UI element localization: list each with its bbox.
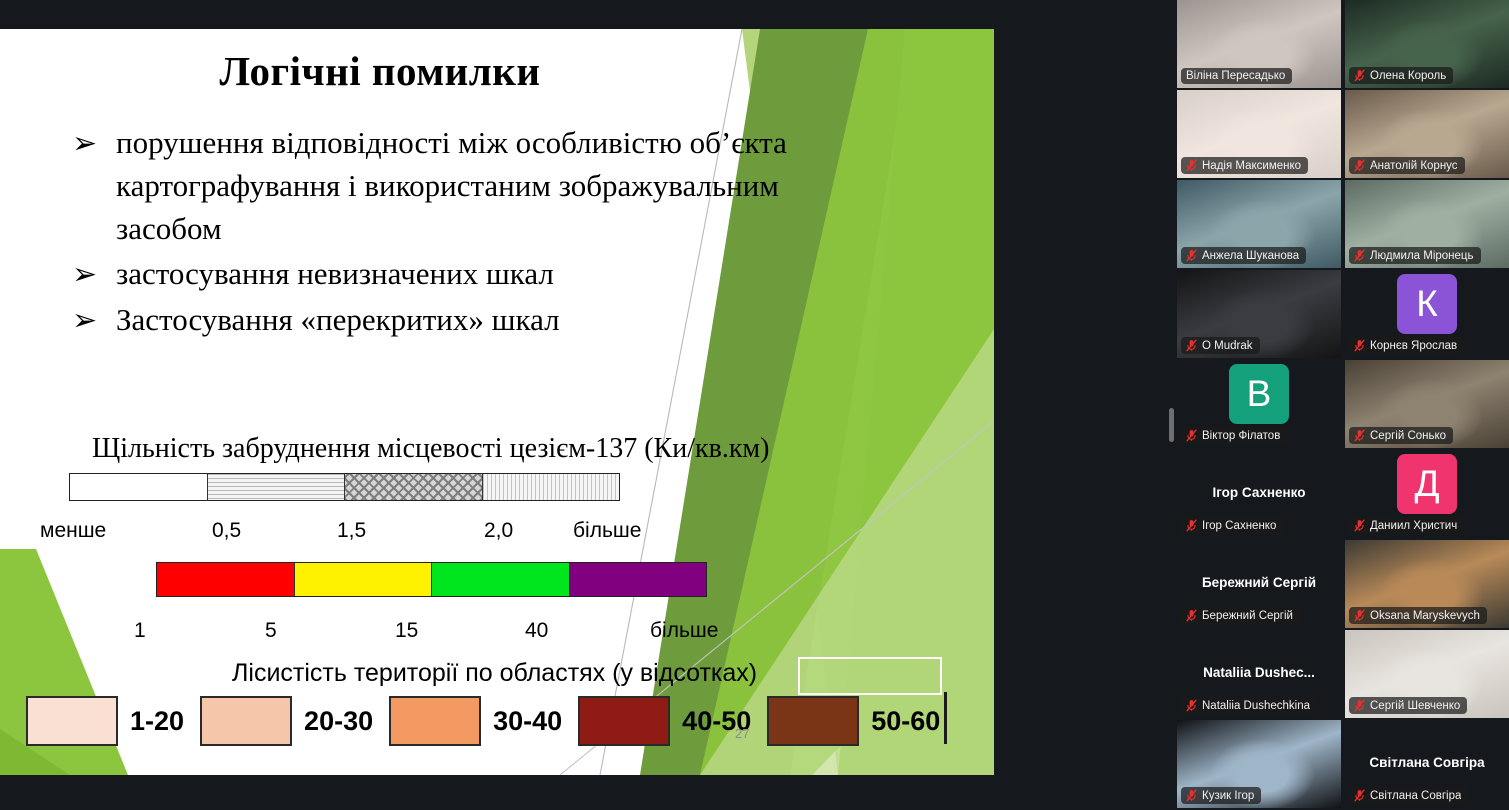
participant-display-name: Світлана Совгіра xyxy=(1345,755,1509,770)
participant-tile[interactable]: Олена Король xyxy=(1345,0,1509,88)
forest-swatch xyxy=(578,696,670,746)
participant-name-badge: Надія Максименко xyxy=(1181,157,1308,174)
forest-swatch xyxy=(389,696,481,746)
microphone-muted-icon xyxy=(1354,249,1365,262)
participant-name-badge: Віліна Пересадько xyxy=(1181,68,1292,84)
participant-name-badge: Анжела Шуканова xyxy=(1181,247,1306,264)
microphone-muted-icon xyxy=(1186,339,1197,352)
participant-tile[interactable]: Світлана Совгіра Світлана Совгіра xyxy=(1345,720,1509,808)
participant-name: Nataliia Dushechkina xyxy=(1202,700,1310,712)
microphone-muted-icon xyxy=(1186,519,1197,532)
participant-name: Анжела Шуканова xyxy=(1202,250,1299,262)
microphone-muted-icon xyxy=(1354,699,1365,712)
bullet-item: ➢ Застосування «перекритих» шкал xyxy=(72,298,872,342)
bullet-list: ➢ порушення відповідності між особливіст… xyxy=(72,121,872,344)
participant-name-badge: Даниил Христич xyxy=(1349,517,1464,534)
microphone-muted-icon xyxy=(1354,339,1365,352)
microphone-muted-icon xyxy=(1186,249,1197,262)
caesium-swatch-blank xyxy=(70,474,208,500)
ramp-swatch-purple xyxy=(570,563,707,596)
forest-swatch xyxy=(26,696,118,746)
participant-avatar: Д xyxy=(1397,454,1457,514)
arrow-bullet-icon: ➢ xyxy=(72,298,116,342)
conference-screen: Логічні помилки ➢ порушення відповідност… xyxy=(0,0,1509,810)
bullet-item: ➢ застосування невизначених шкал xyxy=(72,252,872,296)
microphone-muted-icon xyxy=(1354,69,1365,82)
panel-scrollbar-track[interactable] xyxy=(1164,0,1172,810)
bullet-text: застосування невизначених шкал xyxy=(116,252,554,295)
caesium-axis-labels: менше 0,5 1,5 2,0 більше xyxy=(40,519,720,549)
participant-name: Світлана Совгіра xyxy=(1370,790,1461,802)
participant-name-badge: Ігор Сахненко xyxy=(1181,517,1283,534)
panel-scrollbar-thumb[interactable] xyxy=(1169,408,1174,442)
ramp-label: 15 xyxy=(395,619,418,643)
participant-name: Надія Максименко xyxy=(1202,160,1301,172)
participant-name: Бережний Сергій xyxy=(1202,610,1293,622)
microphone-muted-icon xyxy=(1354,519,1365,532)
participant-name-badge: Кузик Ігор xyxy=(1181,787,1261,804)
participant-name-badge: Oksana Maryskevych xyxy=(1349,607,1487,624)
participant-name-badge: Корнєв Ярослав xyxy=(1349,337,1464,354)
participant-avatar: В xyxy=(1229,364,1289,424)
participant-tile[interactable]: Кузик Ігор xyxy=(1177,720,1341,808)
microphone-muted-icon xyxy=(1354,789,1365,802)
participant-name: Людмила Міронець xyxy=(1370,250,1474,262)
caesium-swatch-horizontal-lines xyxy=(208,474,346,500)
microphone-muted-icon xyxy=(1354,159,1365,172)
forest-legend-caption: Лісистість території по областях (у відс… xyxy=(232,659,757,688)
microphone-muted-icon xyxy=(1186,429,1197,442)
participant-grid: Віліна Пересадько Олена Король Надія Мак… xyxy=(1177,0,1509,810)
slide-title: Логічні помилки xyxy=(0,47,760,95)
bullet-text: Застосування «перекритих» шкал xyxy=(116,298,560,341)
participant-tile[interactable]: Віліна Пересадько xyxy=(1177,0,1341,88)
forest-label: 1-20 xyxy=(130,706,184,737)
legend-end-rule xyxy=(944,692,947,744)
participant-name: Олена Король xyxy=(1370,70,1446,82)
participant-name-badge: Анатолій Корнус xyxy=(1349,157,1465,174)
forest-swatch xyxy=(200,696,292,746)
participant-tile[interactable]: Nataliia Dushec... Nataliia Dushechkina xyxy=(1177,630,1341,718)
forest-legend: 1-20 20-30 30-40 40-50 50-60 xyxy=(26,694,956,748)
participant-panel: Віліна Пересадько Олена Король Надія Мак… xyxy=(1160,0,1509,810)
forest-legend-item: 50-60 xyxy=(767,696,940,746)
participant-tile[interactable]: В Віктор Філатов xyxy=(1177,360,1341,448)
caesium-label: менше xyxy=(40,519,106,543)
microphone-muted-icon xyxy=(1186,789,1197,802)
participant-tile[interactable]: Ігор Сахненко Ігор Сахненко xyxy=(1177,450,1341,538)
participant-tile[interactable]: Д Даниил Христич xyxy=(1345,450,1509,538)
participant-name-badge: Світлана Совгіра xyxy=(1349,787,1468,804)
forest-legend-item: 40-50 xyxy=(578,696,751,746)
ramp-label: 40 xyxy=(525,619,548,643)
participant-name: Сергій Сонько xyxy=(1370,430,1446,442)
caesium-label: 2,0 xyxy=(484,519,513,543)
participant-name-badge: Бережний Сергій xyxy=(1181,607,1300,624)
participant-name: O Mudrak xyxy=(1202,340,1253,352)
participant-name-badge: O Mudrak xyxy=(1181,337,1260,354)
participant-avatar: К xyxy=(1397,274,1457,334)
participant-name-badge: Віктор Філатов xyxy=(1181,427,1287,444)
participant-name-badge: Nataliia Dushechkina xyxy=(1181,697,1317,714)
participant-name: Віліна Пересадько xyxy=(1186,70,1285,82)
arrow-bullet-icon: ➢ xyxy=(72,252,116,296)
forest-legend-item: 20-30 xyxy=(200,696,373,746)
presentation-slide: Логічні помилки ➢ порушення відповідност… xyxy=(0,29,994,775)
caesium-pattern-bar xyxy=(69,473,620,501)
bullet-text: порушення відповідності між особливістю … xyxy=(116,121,872,250)
participant-tile[interactable]: Анатолій Корнус xyxy=(1345,90,1509,178)
microphone-muted-icon xyxy=(1186,699,1197,712)
forest-label: 50-60 xyxy=(871,706,940,737)
participant-tile[interactable]: Сергій Шевченко xyxy=(1345,630,1509,718)
participant-name: Даниил Христич xyxy=(1370,520,1457,532)
caesium-label: більше xyxy=(573,519,641,543)
ramp-label: більше xyxy=(650,619,718,643)
forest-label: 30-40 xyxy=(493,706,562,737)
microphone-muted-icon xyxy=(1186,159,1197,172)
participant-name-badge: Сергій Шевченко xyxy=(1349,697,1467,714)
participant-tile[interactable]: O Mudrak xyxy=(1177,270,1341,358)
ramp-label: 1 xyxy=(134,619,146,643)
bullet-item: ➢ порушення відповідності між особливіст… xyxy=(72,121,872,250)
participant-name-badge: Людмила Міронець xyxy=(1349,247,1481,264)
participant-tile[interactable]: Сергій Сонько xyxy=(1345,360,1509,448)
shared-screen-stage: Логічні помилки ➢ порушення відповідност… xyxy=(0,0,1160,810)
participant-tile[interactable]: К Корнєв Ярослав xyxy=(1345,270,1509,358)
caesium-swatch-vertical-lines xyxy=(483,474,620,500)
microphone-muted-icon xyxy=(1354,609,1365,622)
participant-name: Корнєв Ярослав xyxy=(1370,340,1457,352)
microphone-muted-icon xyxy=(1354,429,1365,442)
participant-display-name: Бережний Сергій xyxy=(1177,575,1341,590)
participant-tile[interactable]: Надія Максименко xyxy=(1177,90,1341,178)
participant-name-badge: Сергій Сонько xyxy=(1349,427,1453,444)
participant-display-name: Nataliia Dushec... xyxy=(1177,665,1341,680)
forest-legend-item: 1-20 xyxy=(26,696,184,746)
white-outline-shape xyxy=(798,657,942,695)
forest-swatch xyxy=(767,696,859,746)
ramp-swatch-green xyxy=(432,563,570,596)
participant-name: Віктор Філатов xyxy=(1202,430,1280,442)
caesium-swatch-cross-hatch xyxy=(345,474,483,500)
caesium-label: 0,5 xyxy=(212,519,241,543)
participant-tile[interactable]: Oksana Maryskevych xyxy=(1345,540,1509,628)
forest-legend-item: 30-40 xyxy=(389,696,562,746)
forest-label: 20-30 xyxy=(304,706,373,737)
microphone-muted-icon xyxy=(1186,609,1197,622)
caesium-label: 1,5 xyxy=(337,519,366,543)
participant-name: Анатолій Корнус xyxy=(1370,160,1458,172)
ramp-axis-labels: 1 5 15 40 більше xyxy=(110,619,790,649)
arrow-bullet-icon: ➢ xyxy=(72,121,116,165)
colour-ramp-bar xyxy=(156,562,707,597)
participant-tile[interactable]: Людмила Міронець xyxy=(1345,180,1509,268)
ramp-swatch-yellow xyxy=(295,563,433,596)
participant-name: Ігор Сахненко xyxy=(1202,520,1276,532)
participant-name: Кузик Ігор xyxy=(1202,790,1254,802)
ramp-swatch-red xyxy=(157,563,295,596)
participant-name-badge: Олена Король xyxy=(1349,67,1453,84)
ramp-label: 5 xyxy=(265,619,277,643)
participant-tile[interactable]: Анжела Шуканова xyxy=(1177,180,1341,268)
participant-tile[interactable]: Бережний Сергій Бережний Сергій xyxy=(1177,540,1341,628)
participant-name: Oksana Maryskevych xyxy=(1370,610,1480,622)
caesium-legend-caption: Щільність забруднення місцевості цезієм-… xyxy=(92,433,769,465)
slide-number: 27 xyxy=(735,726,749,741)
participant-name: Сергій Шевченко xyxy=(1370,700,1460,712)
participant-display-name: Ігор Сахненко xyxy=(1177,485,1341,500)
